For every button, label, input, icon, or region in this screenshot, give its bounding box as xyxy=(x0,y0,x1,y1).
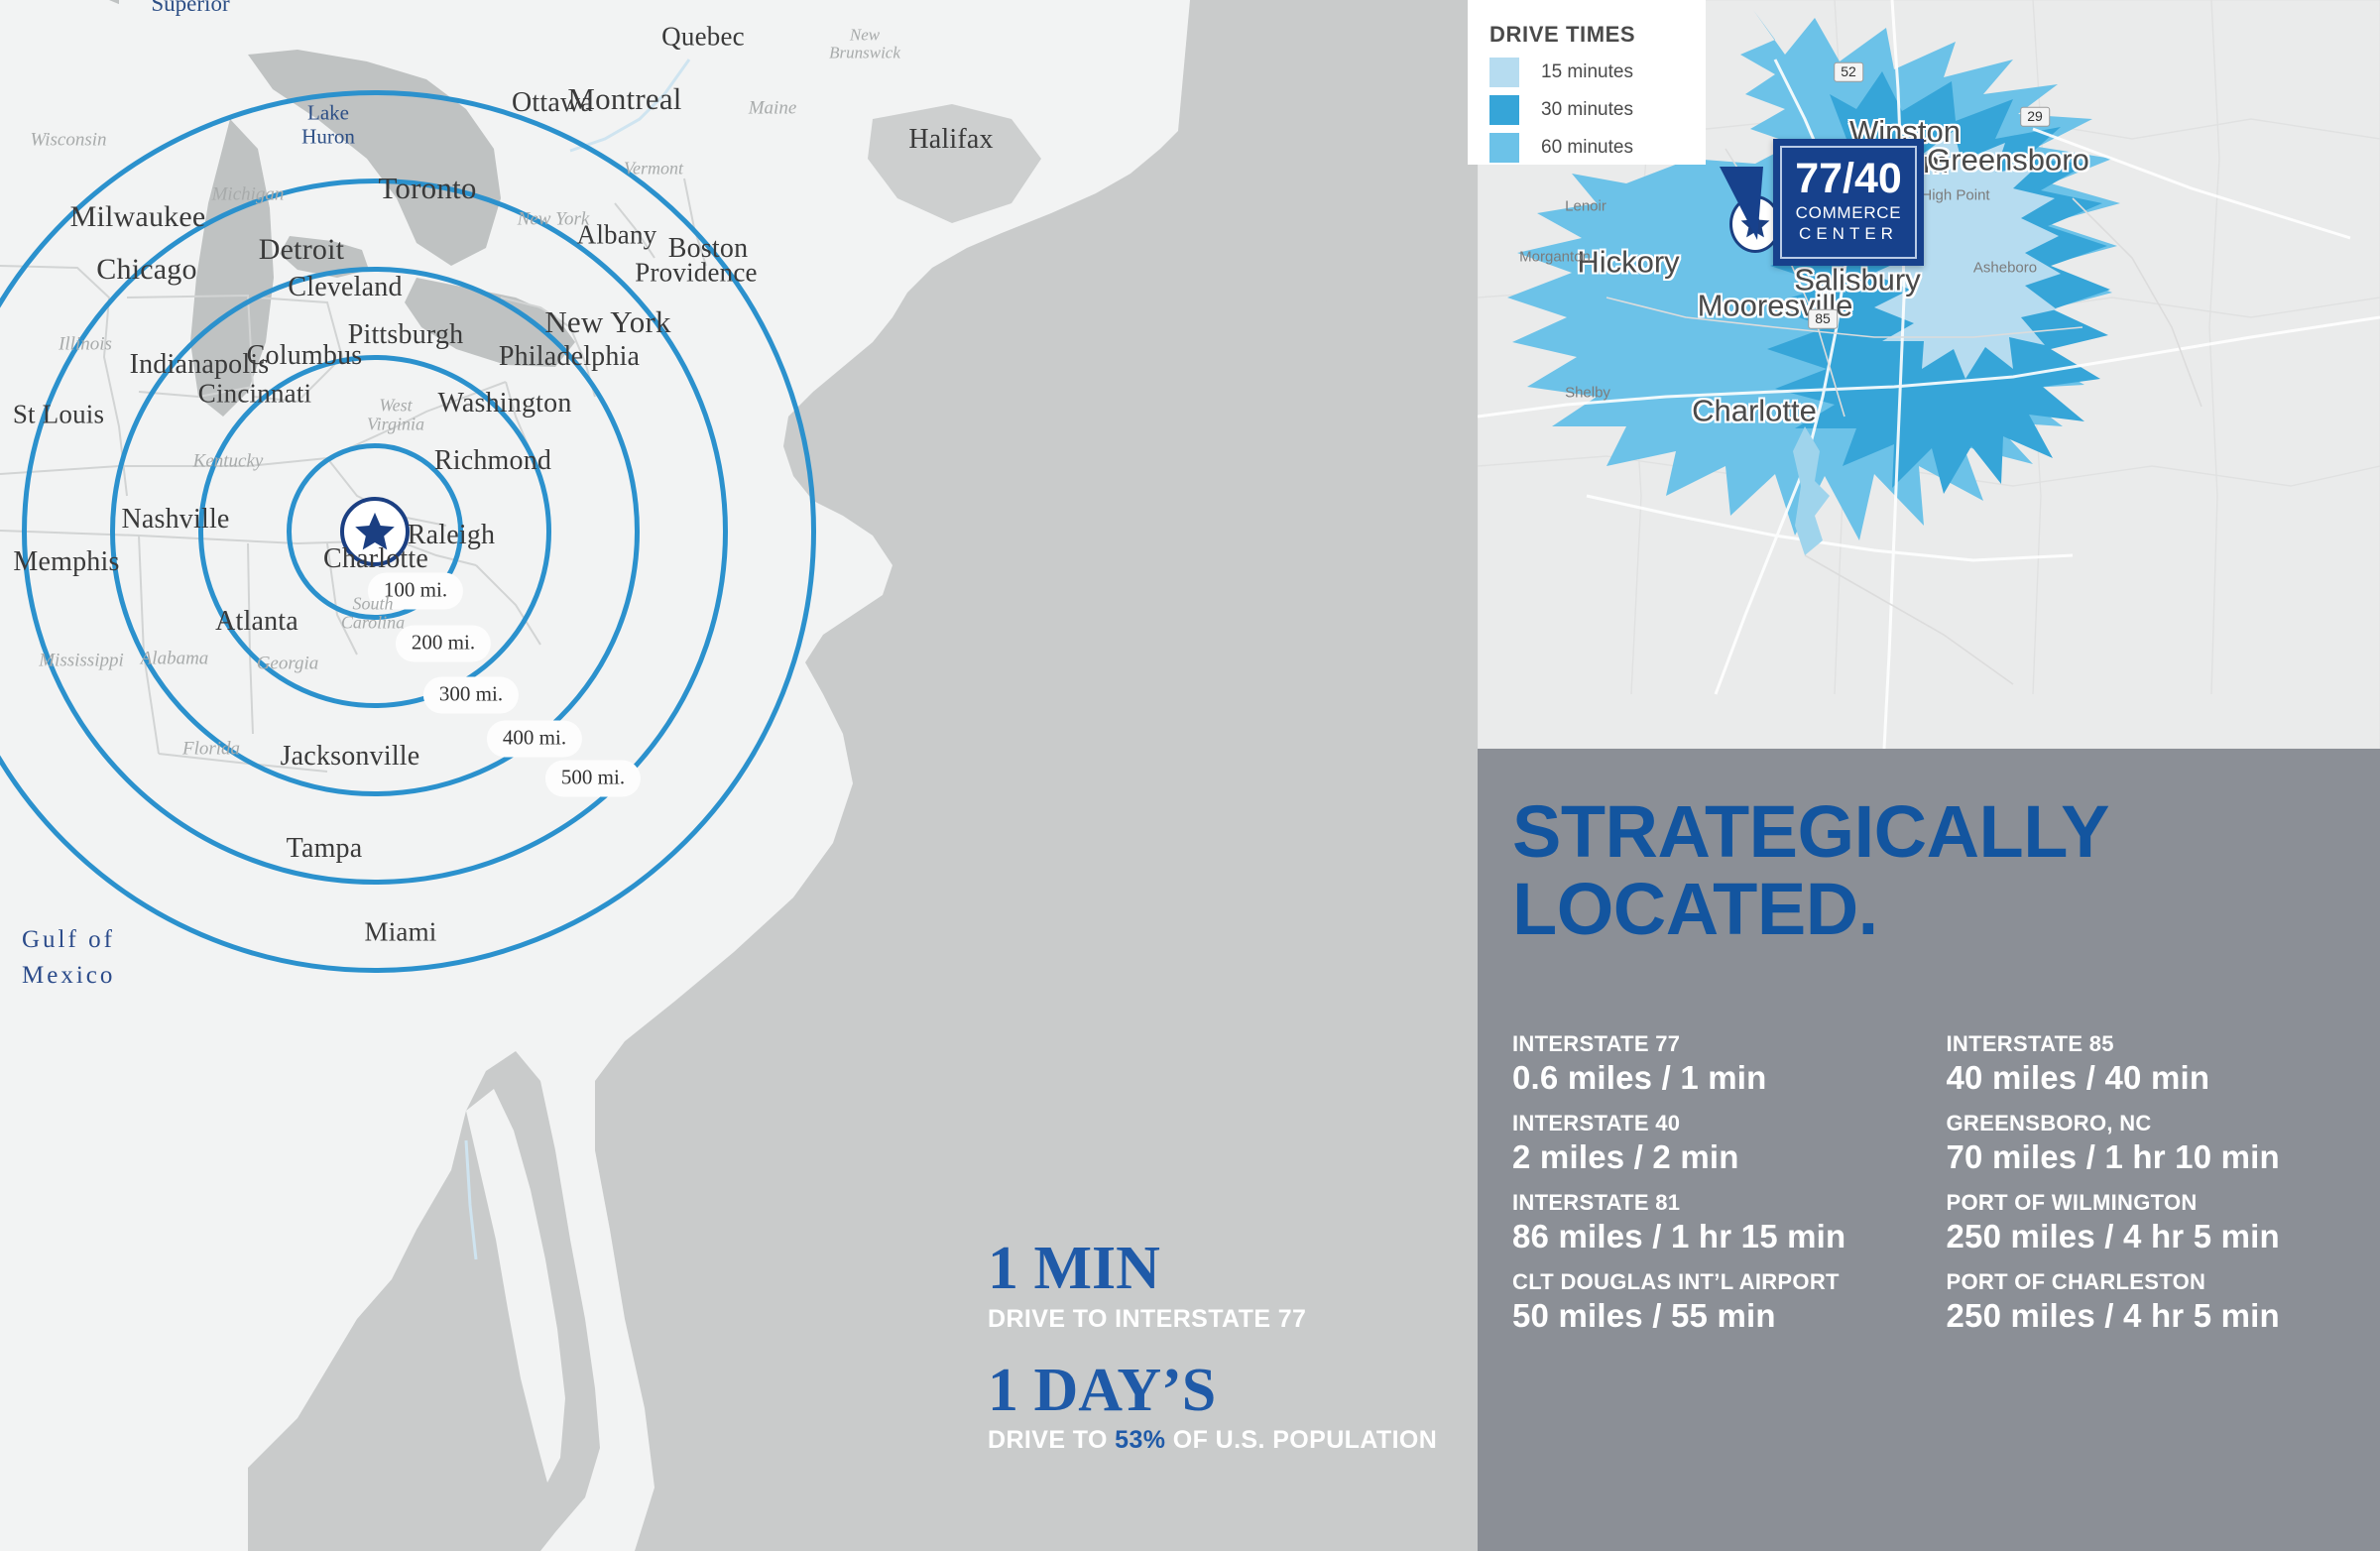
map-city-label-charlotte: Charlotte xyxy=(323,543,428,575)
drive-time-infographic: 100 mi. 200 mi. 300 mi. 400 mi. 500 mi. … xyxy=(0,0,2380,1551)
map-city-label: Halifax xyxy=(908,124,993,156)
stat-value: 50 miles / 55 min xyxy=(1512,1295,1917,1336)
map-state-label: Florida xyxy=(182,740,240,761)
panel-heading-line-2: LOCATED. xyxy=(1512,871,2109,948)
legend-row-60: 60 minutes xyxy=(1489,133,1706,163)
stat-key: INTERSTATE 40 xyxy=(1512,1111,1917,1136)
highway-shield-52: 52 xyxy=(1834,62,1863,82)
stat-sub-drive-i77: DRIVE TO INTERSTATE 77 xyxy=(988,1305,1454,1334)
map-state-label: Vermont xyxy=(624,159,683,178)
map-state-label: New Brunswick xyxy=(829,27,900,63)
map-city-label: Memphis xyxy=(13,546,119,578)
map-state-label: Wisconsin xyxy=(30,131,106,152)
map-state-label: Mississippi xyxy=(39,652,124,672)
legend-row-30: 30 minutes xyxy=(1489,95,1706,125)
inset-small-place-label: Shelby xyxy=(1565,385,1610,402)
map-city-label: Tampa xyxy=(287,833,363,865)
map-city-label: Philadelphia xyxy=(499,341,640,373)
map-lake-label-huron: Lake Huron xyxy=(301,101,355,148)
stat-item: CLT DOUGLAS INT’L AIRPORT 50 miles / 55 … xyxy=(1512,1269,1917,1344)
stat-item: PORT OF WILMINGTON 250 miles / 4 hr 5 mi… xyxy=(1947,1190,2351,1264)
stat-value: 86 miles / 1 hr 15 min xyxy=(1512,1216,1917,1256)
stat-value: 70 miles / 1 hr 10 min xyxy=(1947,1136,2351,1177)
highway-shield-29: 29 xyxy=(2020,107,2050,127)
map-city-label: Richmond xyxy=(434,445,551,477)
stat-value: 0.6 miles / 1 min xyxy=(1512,1057,1917,1098)
map-state-label: Georgia xyxy=(257,655,319,675)
map-state-label: Kentucky xyxy=(193,452,264,473)
stat-key: PORT OF CHARLESTON xyxy=(1947,1269,2351,1295)
ring-label-200: 200 mi. xyxy=(396,626,491,662)
drive-times-legend: DRIVE TIMES 15 minutes 30 minutes 60 min… xyxy=(1468,0,1706,165)
legend-row-15: 15 minutes xyxy=(1489,58,1706,87)
strategically-located-panel: STRATEGICALLY LOCATED. INTERSTATE 77 0.6… xyxy=(1478,749,2380,1551)
stat-item: INTERSTATE 85 40 miles / 40 min xyxy=(1947,1031,2351,1106)
stat-item: INTERSTATE 40 2 miles / 2 min xyxy=(1512,1111,1917,1185)
stat-sub-population-post: OF U.S. POPULATION xyxy=(1165,1426,1437,1454)
stat-key: CLT DOUGLAS INT’L AIRPORT xyxy=(1512,1269,1917,1295)
stat-key: INTERSTATE 85 xyxy=(1947,1031,2351,1057)
stat-value: 2 miles / 2 min xyxy=(1512,1136,1917,1177)
inset-small-place-label: Lenoir xyxy=(1565,198,1606,215)
map-city-label: Montreal xyxy=(567,81,681,117)
map-state-label: Alabama xyxy=(141,650,209,670)
inset-city-label: Charlotte xyxy=(1692,396,1817,426)
map-city-label: Atlanta xyxy=(215,606,298,638)
logo-line-1: 77/40 xyxy=(1795,160,1902,199)
map-state-label: Illinois xyxy=(59,335,112,356)
legend-title: DRIVE TIMES xyxy=(1489,22,1706,48)
stat-big-1-min: 1 MIN xyxy=(988,1240,1454,1299)
map-state-label: West Virginia xyxy=(367,397,424,435)
map-city-label: St Louis xyxy=(13,400,104,430)
map-city-label: Cincinnati xyxy=(198,379,311,410)
inset-city-label: Greensboro xyxy=(1927,145,2089,176)
map-state-label: New York xyxy=(518,210,590,231)
map-city-label: Toronto xyxy=(378,171,476,206)
inset-small-place-label: Morganton xyxy=(1519,249,1591,266)
logo-inner-frame: 77/40 COMMERCE CENTER xyxy=(1780,146,1917,259)
stat-value: 250 miles / 4 hr 5 min xyxy=(1947,1216,2351,1256)
stat-item: INTERSTATE 81 86 miles / 1 hr 15 min xyxy=(1512,1190,1917,1264)
distance-stats-grid: INTERSTATE 77 0.6 miles / 1 min INTERSTA… xyxy=(1512,1031,2350,1344)
stat-population-percent: 53% xyxy=(1115,1426,1165,1454)
stat-key: INTERSTATE 77 xyxy=(1512,1031,1917,1057)
map-city-label: Cleveland xyxy=(288,272,402,303)
highway-shield-85: 85 xyxy=(1808,309,1838,329)
regional-drive-radius-map[interactable]: 100 mi. 200 mi. 300 mi. 400 mi. 500 mi. … xyxy=(0,0,1478,1551)
stat-item: PORT OF CHARLESTON 250 miles / 4 hr 5 mi… xyxy=(1947,1269,2351,1344)
panel-heading: STRATEGICALLY LOCATED. xyxy=(1512,793,2109,947)
map-city-label: Detroit xyxy=(259,233,344,267)
project-logo-badge[interactable]: 77/40 COMMERCE CENTER xyxy=(1773,139,1924,266)
logo-line-3: CENTER xyxy=(1799,223,1898,244)
map-city-label: Pittsburgh xyxy=(348,319,464,351)
map-city-label: Nashville xyxy=(121,504,229,536)
stat-item: INTERSTATE 77 0.6 miles / 1 min xyxy=(1512,1031,1917,1106)
inset-small-place-label: High Point xyxy=(1921,187,1989,204)
star-icon xyxy=(1739,208,1771,240)
stat-key: PORT OF WILMINGTON xyxy=(1947,1190,2351,1216)
panel-heading-line-1: STRATEGICALLY xyxy=(1512,793,2109,871)
stat-key: GREENSBORO, NC xyxy=(1947,1111,2351,1136)
map-city-label: New York xyxy=(544,304,670,340)
ring-label-400: 400 mi. xyxy=(487,721,582,758)
inset-small-place-label: Asheboro xyxy=(1973,260,2037,277)
map-state-label: Maine xyxy=(749,99,797,120)
ring-label-300: 300 mi. xyxy=(423,677,519,714)
stat-value: 250 miles / 4 hr 5 min xyxy=(1947,1295,2351,1336)
map-city-label: Providence xyxy=(635,258,757,289)
stat-sub-population-pre: DRIVE TO xyxy=(988,1426,1115,1454)
ring-label-500: 500 mi. xyxy=(545,761,641,797)
logo-line-2: COMMERCE xyxy=(1796,202,1902,223)
legend-swatch-15 xyxy=(1489,58,1519,87)
map-lake-label-superior: Superior xyxy=(151,0,229,17)
map-city-label: Indianapolis xyxy=(130,349,270,381)
map-city-label: Jacksonville xyxy=(281,741,420,773)
map-city-label: Washington xyxy=(437,388,571,419)
legend-label-30: 30 minutes xyxy=(1541,99,1633,121)
legend-swatch-60 xyxy=(1489,133,1519,163)
stat-sub-population: DRIVE TO 53% OF U.S. POPULATION xyxy=(988,1426,1454,1455)
map-city-label: Milwaukee xyxy=(70,200,206,234)
stat-key: INTERSTATE 81 xyxy=(1512,1190,1917,1216)
map-city-label: Miami xyxy=(365,917,437,948)
stat-big-1-day: 1 DAY’S xyxy=(988,1362,1454,1421)
map-state-label: Michigan xyxy=(212,185,285,206)
map-stat-callouts: 1 MIN DRIVE TO INTERSTATE 77 1 DAY’S DRI… xyxy=(988,1240,1454,1455)
stat-value: 40 miles / 40 min xyxy=(1947,1057,2351,1098)
map-city-label: Quebec xyxy=(661,22,745,53)
map-gulf-label: Gulf of Mexico xyxy=(22,922,115,995)
legend-label-60: 60 minutes xyxy=(1541,137,1633,159)
legend-swatch-30 xyxy=(1489,95,1519,125)
inset-city-label: Hickory xyxy=(1577,247,1679,278)
stat-item: GREENSBORO, NC 70 miles / 1 hr 10 min xyxy=(1947,1111,2351,1185)
legend-label-15: 15 minutes xyxy=(1541,61,1633,83)
map-state-label: South Carolina xyxy=(341,595,405,634)
map-city-label: Chicago xyxy=(96,253,196,287)
